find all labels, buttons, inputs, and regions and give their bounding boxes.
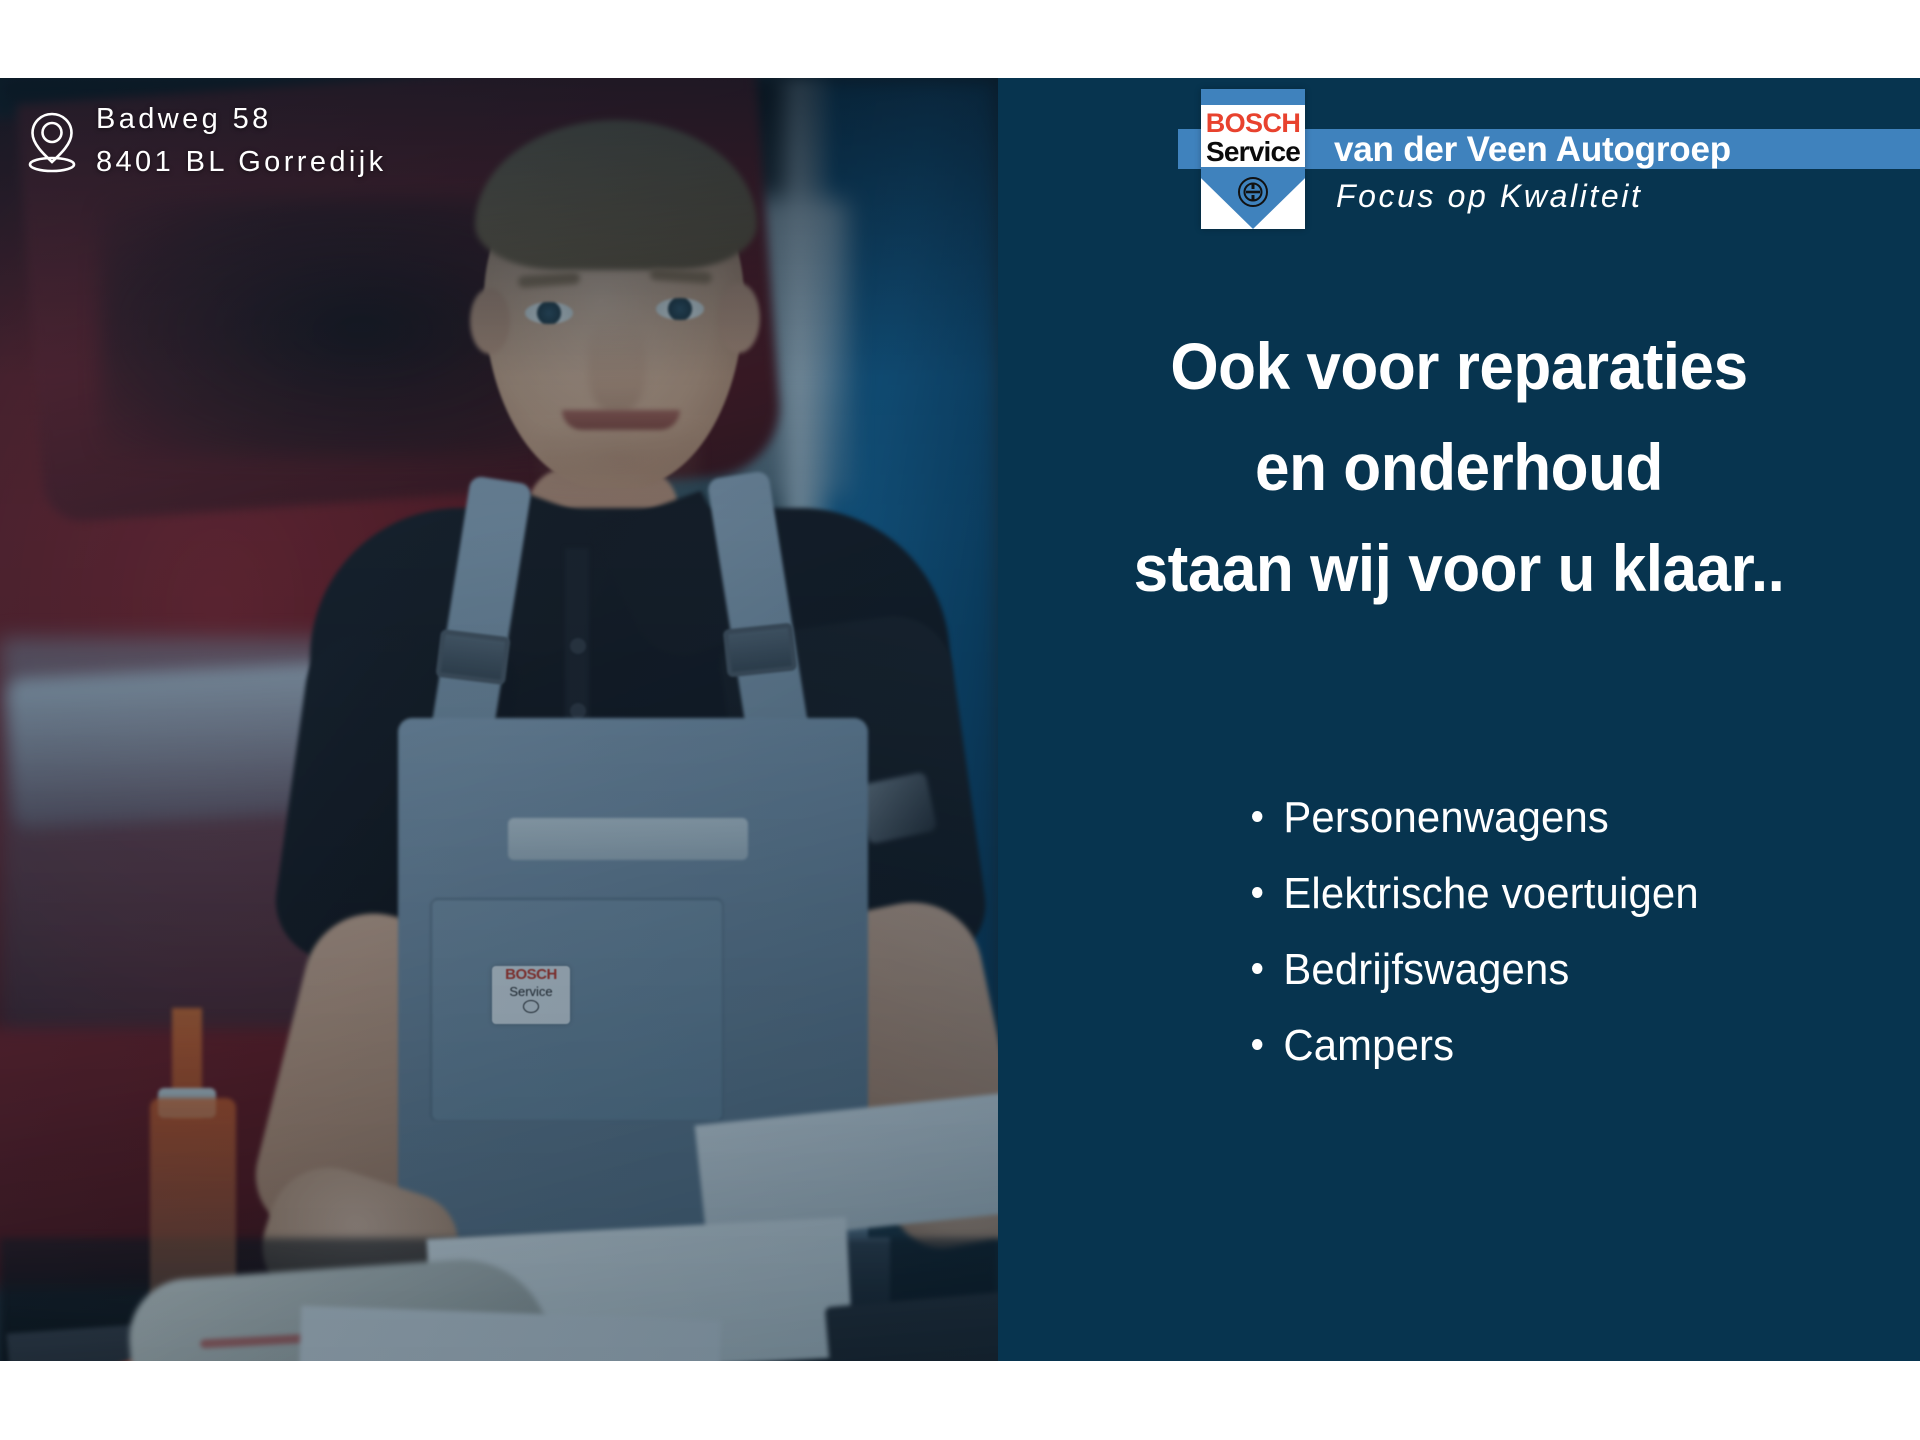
bullet-dot-icon xyxy=(1252,963,1262,974)
advertisement-banner: BOSCH Service xyxy=(0,78,1920,1361)
bosch-armature-icon xyxy=(1236,175,1270,209)
headline: Ook voor reparaties en onderhoud staan w… xyxy=(1026,316,1893,619)
service-label: Campers xyxy=(1283,1022,1454,1070)
list-item: Personenwagens xyxy=(1252,794,1699,842)
service-label: Bedrijfswagens xyxy=(1283,946,1569,994)
logo-bosch-text: BOSCH xyxy=(1201,109,1305,137)
headline-line-1: Ook voor reparaties xyxy=(1026,316,1893,417)
info-panel: BOSCH Service van der Veen Autogroep Foc… xyxy=(998,78,1920,1361)
service-label: Personenwagens xyxy=(1283,794,1609,842)
logo-service-text: Service xyxy=(1201,137,1305,167)
bullet-dot-icon xyxy=(1252,1039,1262,1050)
mechanic-photo: BOSCH Service xyxy=(0,78,998,1361)
address-line-2: 8401 BL Gorredijk xyxy=(96,141,386,184)
address-text: Badweg 58 8401 BL Gorredijk xyxy=(96,98,386,184)
bullet-dot-icon xyxy=(1252,811,1262,822)
brand-lockup: BOSCH Service van der Veen Autogroep Foc… xyxy=(998,78,1920,258)
services-list: Personenwagens Elektrische voertuigen Be… xyxy=(1252,794,1722,1098)
company-tagline: Focus op Kwaliteit xyxy=(1336,178,1642,215)
bullet-dot-icon xyxy=(1252,887,1262,898)
address-line-1: Badweg 58 xyxy=(96,98,386,141)
service-label: Elektrische voertuigen xyxy=(1283,870,1698,918)
headline-line-2: en onderhoud xyxy=(1026,417,1893,518)
address-block: Badweg 58 8401 BL Gorredijk xyxy=(26,98,386,184)
list-item: Campers xyxy=(1252,1022,1699,1070)
list-item: Elektrische voertuigen xyxy=(1252,870,1699,918)
photo-inner: BOSCH Service xyxy=(0,78,998,1361)
company-name: van der Veen Autogroep xyxy=(1334,130,1731,170)
bosch-service-logo: BOSCH Service xyxy=(1201,89,1305,229)
list-item: Bedrijfswagens xyxy=(1252,946,1699,994)
location-pin-icon xyxy=(26,108,78,174)
logo-top-bar xyxy=(1201,89,1305,105)
headline-line-3: staan wij voor u klaar.. xyxy=(1026,518,1893,619)
